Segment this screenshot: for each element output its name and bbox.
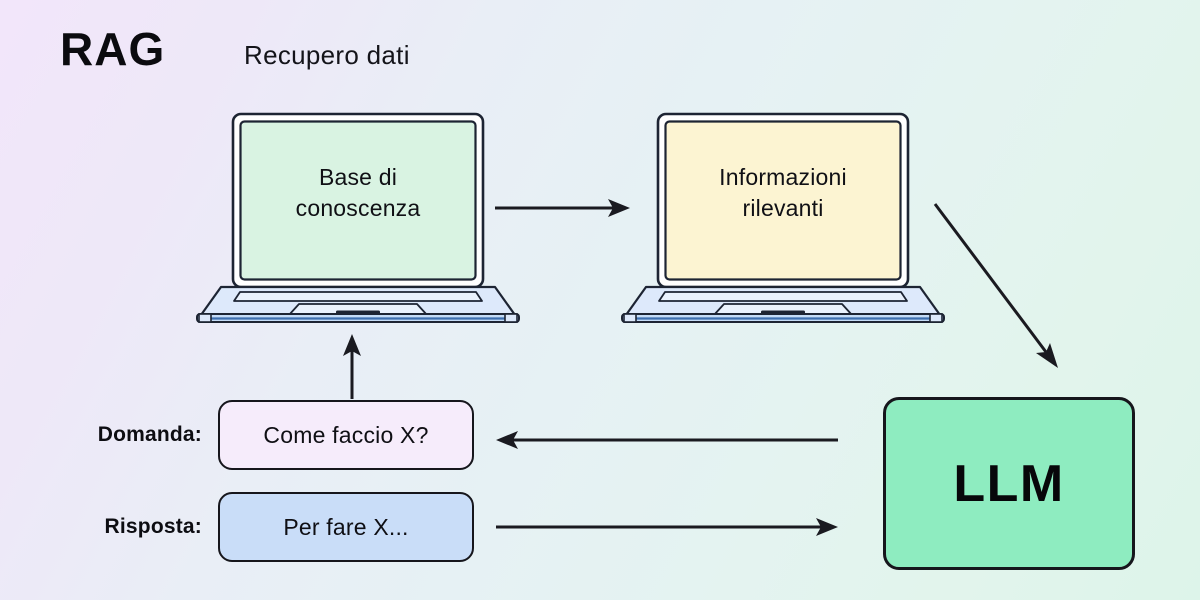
question-box-text: Come faccio X? (263, 422, 428, 449)
page-subtitle: Recupero dati (244, 40, 410, 71)
screen-line-2: rilevanti (618, 193, 948, 224)
arrow-llm-to-question (496, 431, 838, 449)
llm-label: LLM (953, 454, 1064, 514)
laptop-knowledge-base: Base di conoscenza (193, 110, 523, 325)
llm-box[interactable]: LLM (883, 397, 1135, 570)
answer-label: Risposta: (52, 515, 202, 539)
arrow-question-to-knowledge (343, 334, 361, 399)
laptop-knowledge-screen-text: Base di conoscenza (193, 162, 523, 224)
laptop-relevant-info: Informazioni rilevanti (618, 110, 948, 325)
arrow-info-to-llm (935, 204, 1058, 368)
laptop-info-screen-text: Informazioni rilevanti (618, 162, 948, 224)
answer-box[interactable]: Per fare X... (218, 492, 474, 562)
arrow-answer-to-llm (496, 518, 838, 536)
question-box[interactable]: Come faccio X? (218, 400, 474, 470)
answer-box-text: Per fare X... (283, 514, 408, 541)
diagram-canvas: RAG Recupero dati Base di conoscenza (0, 0, 1200, 600)
screen-line-2: conoscenza (193, 193, 523, 224)
page-title: RAG (60, 26, 165, 72)
question-label: Domanda: (52, 423, 202, 447)
screen-line-1: Informazioni (618, 162, 948, 193)
screen-line-1: Base di (193, 162, 523, 193)
